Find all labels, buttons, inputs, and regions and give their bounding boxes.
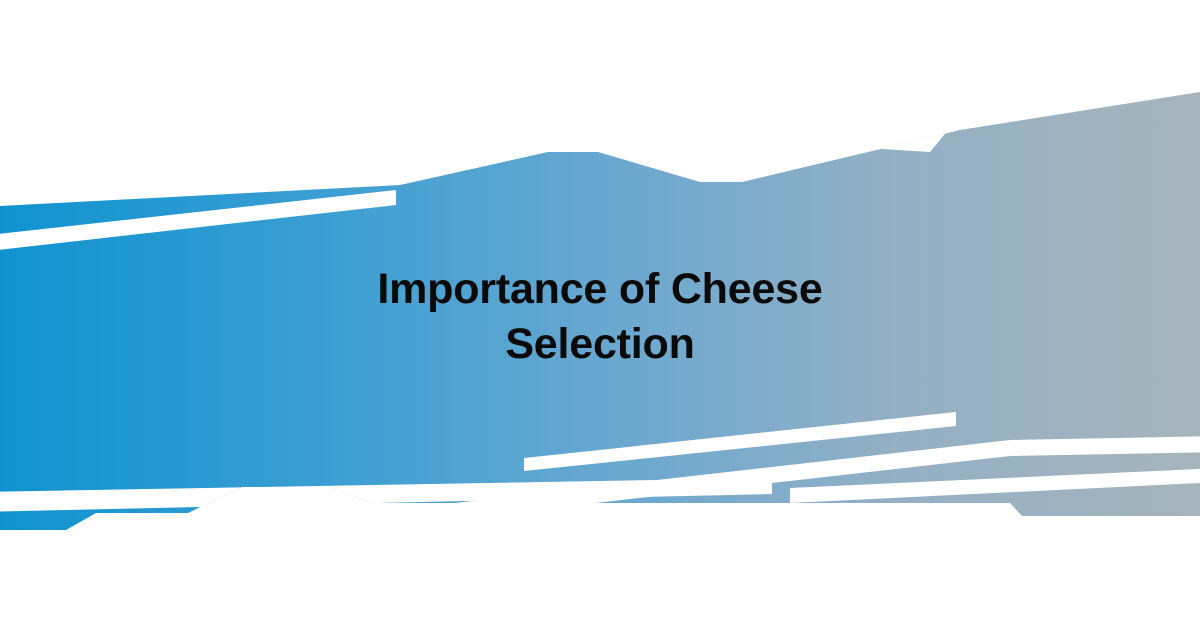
gradient-band <box>0 0 1200 630</box>
top-right-dash-medium <box>729 130 776 151</box>
top-right-dash-small-2 <box>713 138 722 152</box>
banner-card: Importance of Cheese Selection <box>0 0 1200 630</box>
decorative-background-art <box>0 0 1200 630</box>
top-right-dash-small-1 <box>698 139 707 153</box>
